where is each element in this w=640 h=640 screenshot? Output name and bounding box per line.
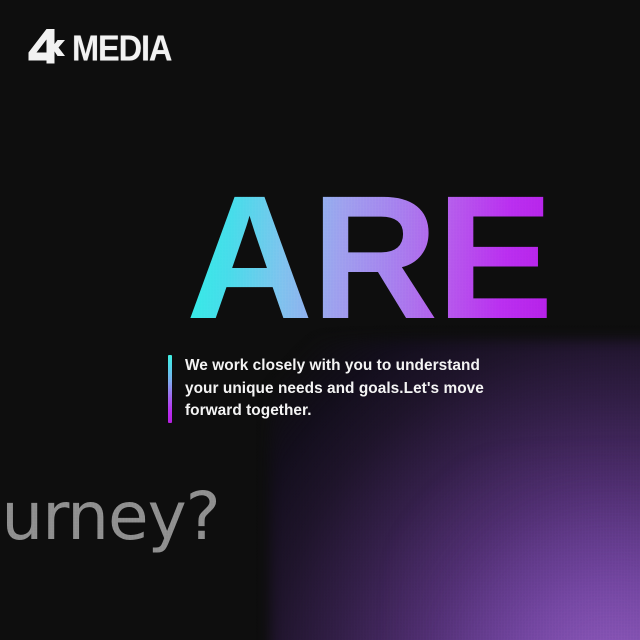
- body-text: We work closely with you to understand y…: [185, 355, 484, 423]
- body-block: We work closely with you to understand y…: [168, 355, 484, 423]
- brand-logo[interactable]: MEDIA: [27, 27, 179, 70]
- accent-bar: [168, 355, 172, 423]
- body-line: your unique needs and goals.Let's move: [185, 378, 484, 401]
- 4k-mark-icon: [27, 27, 69, 70]
- headline: ARE: [186, 185, 552, 333]
- ghost-word: ourney?: [0, 484, 220, 550]
- slide-canvas: MEDIA ARE We work closely with you to un…: [0, 0, 640, 640]
- body-line: forward together.: [185, 400, 484, 423]
- body-line: We work closely with you to understand: [185, 355, 484, 378]
- brand-wordmark: MEDIA: [72, 30, 171, 66]
- purple-corner-glow-inner: [400, 460, 640, 640]
